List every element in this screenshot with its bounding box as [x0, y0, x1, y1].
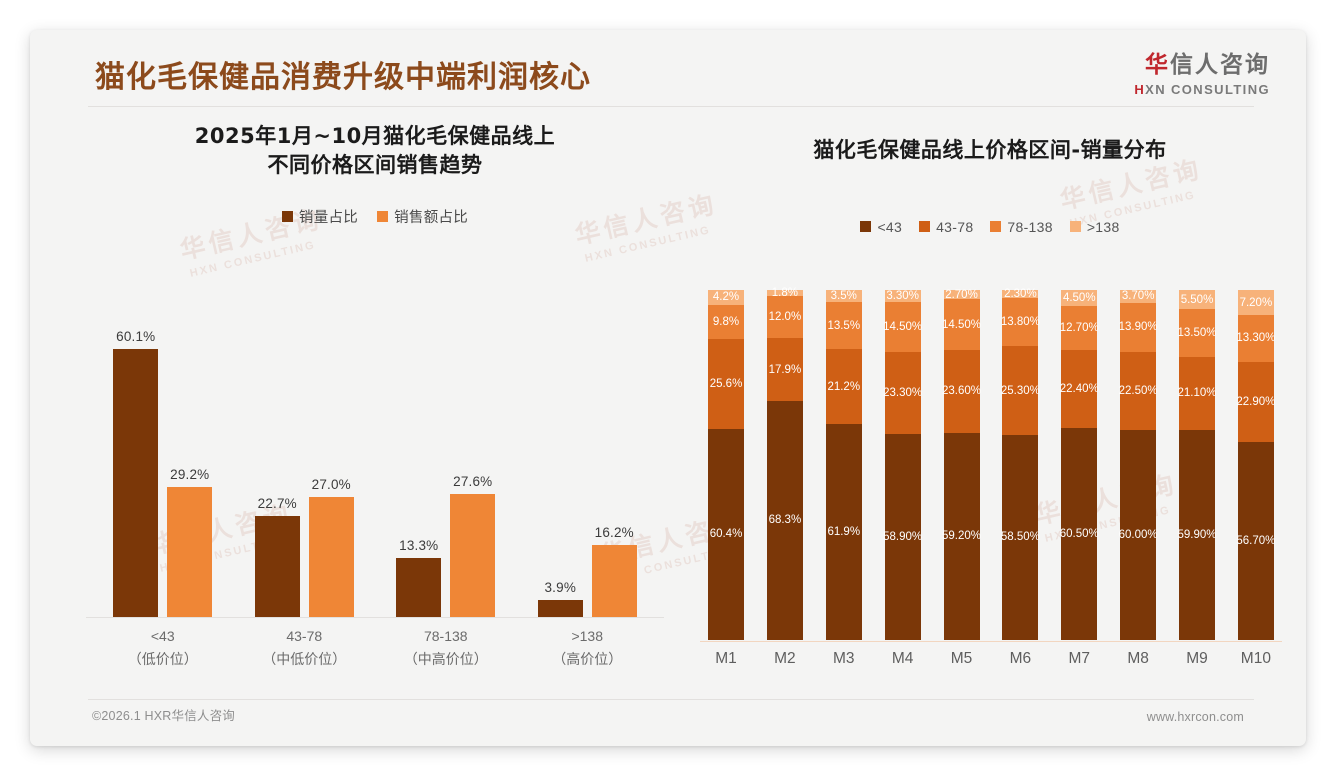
- brand-logo: 华信人咨询 HXN CONSULTING: [1134, 54, 1270, 96]
- stack-segment->138-M5: 2.70%: [944, 290, 980, 299]
- stack-value-label: 56.70%: [1236, 535, 1275, 547]
- stacked-bar-M4[interactable]: 3.30%14.50%23.30%58.90%: [885, 290, 921, 640]
- bar-value-label: 16.2%: [595, 525, 634, 540]
- stack-segment->138-M8: 3.70%: [1120, 290, 1156, 303]
- right-legend-item-1[interactable]: 43-78: [919, 219, 973, 235]
- left-chart-plot: 60.1%29.2%22.7%27.0%13.3%27.6%3.9%16.2%: [92, 327, 658, 617]
- right-legend-item-0[interactable]: <43: [860, 219, 902, 235]
- stack-segment-43-78-M2: 17.9%: [767, 338, 803, 401]
- stack-value-label: 14.50%: [942, 319, 981, 331]
- stack-segment-<43-M6: 58.50%: [1002, 435, 1038, 640]
- stack-value-label: 5.50%: [1181, 294, 1214, 306]
- stack-value-label: 7.20%: [1240, 297, 1273, 309]
- stack-value-label: 13.50%: [1178, 327, 1217, 339]
- stack-value-label: 25.6%: [710, 378, 743, 390]
- stacked-bar-M1[interactable]: 4.2%9.8%25.6%60.4%: [708, 290, 744, 640]
- legend-label: <43: [877, 219, 902, 235]
- bar-value-label: 27.6%: [453, 474, 492, 489]
- stack-segment->138-M9: 5.50%: [1179, 290, 1215, 309]
- stack-value-label: 60.00%: [1119, 529, 1158, 541]
- slide-header: 猫化毛保健品消费升级中端利润核心 华信人咨询 HXN CONSULTING: [30, 30, 1306, 108]
- stack-value-label: 61.9%: [827, 526, 860, 538]
- xaxis-label-M6: M6: [1002, 650, 1038, 668]
- stack-value-label: 3.70%: [1122, 290, 1155, 302]
- stack-segment-43-78-M1: 25.6%: [708, 339, 744, 429]
- bar-销量占比-43-78[interactable]: 22.7%: [255, 327, 300, 617]
- stack-segment->138-M6: 2.30%: [1002, 290, 1038, 298]
- bar-rect: [113, 349, 158, 617]
- bar-rect: [309, 497, 354, 617]
- legend-swatch-icon: [1070, 221, 1081, 232]
- stack-segment-<43-M4: 58.90%: [885, 434, 921, 640]
- bar-销量占比-<43[interactable]: 60.1%: [113, 327, 158, 617]
- bar-value-label: 60.1%: [116, 329, 155, 344]
- stack-segment->138-M10: 7.20%: [1238, 290, 1274, 315]
- stack-value-label: 23.60%: [942, 385, 981, 397]
- stack-segment-<43-M3: 61.9%: [826, 424, 862, 640]
- legend-swatch-icon: [990, 221, 1001, 232]
- xaxis-label-M3: M3: [826, 650, 862, 668]
- stack-value-label: 17.9%: [769, 364, 802, 376]
- bar-value-label: 3.9%: [544, 580, 576, 595]
- legend-label: 销量占比: [299, 206, 358, 227]
- stack-value-label: 13.5%: [827, 320, 860, 332]
- xaxis-label-M7: M7: [1061, 650, 1097, 668]
- stacked-bar-M5[interactable]: 2.70%14.50%23.60%59.20%: [944, 290, 980, 640]
- stack-segment-43-78-M10: 22.90%: [1238, 362, 1274, 442]
- stack-value-label: 4.50%: [1063, 292, 1096, 304]
- left-legend-item-1[interactable]: 销售额占比: [377, 206, 468, 227]
- bar-销售额占比-43-78[interactable]: 27.0%: [309, 327, 354, 617]
- stack-segment-78-138-M1: 9.8%: [708, 305, 744, 339]
- stack-value-label: 21.2%: [827, 381, 860, 393]
- left-chart-panel: 2025年1月~10月猫化毛保健品线上 不同价格区间销售趋势 销量占比销售额占比…: [70, 122, 680, 682]
- bar-value-label: 29.2%: [170, 467, 209, 482]
- bar-group-43-78: 22.7%27.0%: [255, 327, 354, 617]
- stack-segment-78-138-M10: 13.30%: [1238, 315, 1274, 362]
- logo-cn-text: 华信人咨询: [1134, 54, 1270, 77]
- stack-segment-<43-M2: 68.3%: [767, 401, 803, 640]
- stack-segment-43-78-M7: 22.40%: [1061, 350, 1097, 428]
- stack-segment-78-138-M4: 14.50%: [885, 302, 921, 353]
- legend-swatch-icon: [860, 221, 871, 232]
- stack-value-label: 14.50%: [883, 321, 922, 333]
- bar-rect: [167, 487, 212, 617]
- stacked-bar-M3[interactable]: 3.5%13.5%21.2%61.9%: [826, 290, 862, 640]
- stack-value-label: 58.50%: [1001, 531, 1040, 543]
- right-chart-panel: 猫化毛保健品线上价格区间-销量分布 <4343-7878-138>138 4.2…: [690, 122, 1290, 682]
- stack-segment-43-78-M3: 21.2%: [826, 349, 862, 423]
- stack-value-label: 4.2%: [713, 291, 739, 303]
- right-chart-legend: <4343-7878-138>138: [690, 219, 1290, 235]
- xaxis-label-78-138: 78-138（中高价位）: [391, 625, 501, 671]
- xaxis-label-M2: M2: [767, 650, 803, 668]
- stack-value-label: 59.90%: [1178, 529, 1217, 541]
- stack-segment-<43-M9: 59.90%: [1179, 430, 1215, 640]
- stack-value-label: 13.30%: [1236, 332, 1275, 344]
- xaxis-label-<43: <43（低价位）: [108, 625, 218, 671]
- stack-segment->138-M7: 4.50%: [1061, 290, 1097, 306]
- stack-segment-<43-M8: 60.00%: [1120, 430, 1156, 640]
- stack-value-label: 59.20%: [942, 530, 981, 542]
- bar-rect: [450, 494, 495, 617]
- stack-value-label: 3.30%: [886, 290, 919, 302]
- stack-value-label: 23.30%: [883, 387, 922, 399]
- left-chart-title: 2025年1月~10月猫化毛保健品线上 不同价格区间销售趋势: [70, 122, 680, 180]
- stack-segment-78-138-M9: 13.50%: [1179, 309, 1215, 356]
- right-legend-item-3[interactable]: >138: [1070, 219, 1120, 235]
- stacked-bar-M9[interactable]: 5.50%13.50%21.10%59.90%: [1179, 290, 1215, 640]
- header-divider: [88, 106, 1254, 107]
- bar-value-label: 13.3%: [399, 538, 438, 553]
- stack-segment->138-M1: 4.2%: [708, 290, 744, 305]
- stack-value-label: 58.90%: [883, 531, 922, 543]
- legend-label: 销售额占比: [394, 206, 468, 227]
- bar-rect: [592, 545, 637, 617]
- bar-rect: [396, 558, 441, 617]
- left-chart-title-line1: 2025年1月~10月猫化毛保健品线上: [195, 124, 555, 148]
- stack-segment-43-78-M4: 23.30%: [885, 352, 921, 434]
- stack-value-label: 68.3%: [769, 514, 802, 526]
- bar-销售额占比-78-138[interactable]: 27.6%: [450, 327, 495, 617]
- legend-label: 78-138: [1007, 219, 1052, 235]
- stack-segment-78-138-M2: 12.0%: [767, 296, 803, 338]
- stack-segment->138-M3: 3.5%: [826, 290, 862, 302]
- stack-value-label: 22.50%: [1119, 385, 1158, 397]
- legend-swatch-icon: [377, 211, 388, 222]
- stacked-bar-M8[interactable]: 3.70%13.90%22.50%60.00%: [1120, 290, 1156, 640]
- bar-销量占比->138[interactable]: 3.9%: [538, 327, 583, 617]
- left-chart-axis-line: [86, 617, 664, 618]
- stack-value-label: 25.30%: [1001, 385, 1040, 397]
- stack-value-label: 60.4%: [710, 528, 743, 540]
- stack-segment-43-78-M5: 23.60%: [944, 350, 980, 433]
- stack-segment-43-78-M9: 21.10%: [1179, 357, 1215, 431]
- stack-segment-<43-M10: 56.70%: [1238, 442, 1274, 640]
- right-legend-item-2[interactable]: 78-138: [990, 219, 1052, 235]
- left-chart-legend: 销量占比销售额占比: [70, 206, 680, 227]
- bar-销量占比-78-138[interactable]: 13.3%: [396, 327, 441, 617]
- bar-销售额占比-<43[interactable]: 29.2%: [167, 327, 212, 617]
- stack-value-label: 13.90%: [1119, 321, 1158, 333]
- stack-segment-43-78-M8: 22.50%: [1120, 352, 1156, 431]
- stack-value-label: 60.50%: [1060, 528, 1099, 540]
- legend-label: 43-78: [936, 219, 973, 235]
- xaxis-label-M1: M1: [708, 650, 744, 668]
- stack-segment-78-138-M3: 13.5%: [826, 302, 862, 349]
- xaxis-label-M9: M9: [1179, 650, 1215, 668]
- legend-label: >138: [1087, 219, 1120, 235]
- stack-segment-78-138-M8: 13.90%: [1120, 303, 1156, 352]
- stack-segment-<43-M5: 59.20%: [944, 433, 980, 640]
- stacked-bar-M6[interactable]: 2.30%13.80%25.30%58.50%: [1002, 290, 1038, 640]
- bar-value-label: 22.7%: [258, 496, 297, 511]
- stacked-bar-M10[interactable]: 7.20%13.30%22.90%56.70%: [1238, 290, 1274, 640]
- xaxis-label-43-78: 43-78（中低价位）: [249, 625, 359, 671]
- bar-销售额占比->138[interactable]: 16.2%: [592, 327, 637, 617]
- stack-segment-<43-M1: 60.4%: [708, 429, 744, 640]
- footer-copyright: ©2026.1 HXR华信人咨询: [92, 705, 235, 724]
- page-title: 猫化毛保健品消费升级中端利润核心: [95, 52, 591, 96]
- xaxis-label->138: >138（高价位）: [532, 625, 642, 671]
- footer-website: www.hxrcon.com: [1147, 710, 1244, 724]
- stack-value-label: 21.10%: [1178, 387, 1217, 399]
- xaxis-label-M5: M5: [944, 650, 980, 668]
- right-chart-axis-line: [700, 641, 1282, 642]
- bar-group-78-138: 13.3%27.6%: [396, 327, 495, 617]
- stack-value-label: 13.80%: [1001, 316, 1040, 328]
- stack-value-label: 12.0%: [769, 311, 802, 323]
- logo-en-text: HXN CONSULTING: [1134, 83, 1270, 96]
- stack-segment->138-M4: 3.30%: [885, 290, 921, 302]
- left-chart-xaxis-labels: <43（低价位）43-78（中低价位）78-138（中高价位）>138（高价位）: [92, 625, 658, 671]
- left-legend-item-0[interactable]: 销量占比: [282, 206, 358, 227]
- stack-segment-78-138-M5: 14.50%: [944, 299, 980, 350]
- stack-segment-43-78-M6: 25.30%: [1002, 346, 1038, 435]
- right-chart-xaxis-labels: M1M2M3M4M5M6M7M8M9M10: [708, 650, 1274, 668]
- legend-swatch-icon: [282, 211, 293, 222]
- bar-rect: [538, 600, 583, 617]
- right-chart-plot: 4.2%9.8%25.6%60.4%1.8%12.0%17.9%68.3%3.5…: [708, 290, 1274, 640]
- left-chart-title-line2: 不同价格区间销售趋势: [268, 153, 483, 177]
- stack-value-label: 22.40%: [1060, 383, 1099, 395]
- xaxis-label-M8: M8: [1120, 650, 1156, 668]
- stack-segment-<43-M7: 60.50%: [1061, 428, 1097, 640]
- stack-value-label: 3.5%: [831, 290, 857, 302]
- bar-rect: [255, 516, 300, 617]
- xaxis-label-M4: M4: [885, 650, 921, 668]
- stacked-bar-M7[interactable]: 4.50%12.70%22.40%60.50%: [1061, 290, 1097, 640]
- right-chart-title: 猫化毛保健品线上价格区间-销量分布: [690, 122, 1290, 165]
- stack-segment-78-138-M6: 13.80%: [1002, 298, 1038, 346]
- stacked-bar-M2[interactable]: 1.8%12.0%17.9%68.3%: [767, 290, 803, 640]
- legend-swatch-icon: [919, 221, 930, 232]
- bar-value-label: 27.0%: [312, 477, 351, 492]
- stack-segment-78-138-M7: 12.70%: [1061, 306, 1097, 350]
- bar-group-<43: 60.1%29.2%: [113, 327, 212, 617]
- xaxis-label-M10: M10: [1238, 650, 1274, 668]
- bar-group->138: 3.9%16.2%: [538, 327, 637, 617]
- stack-value-label: 9.8%: [713, 316, 739, 328]
- stack-value-label: 22.90%: [1236, 396, 1275, 408]
- slide-card: 华信人咨询 HXN CONSULTING 华信人咨询 HXN CONSULTIN…: [30, 30, 1306, 746]
- footer-divider: [88, 699, 1254, 700]
- stack-value-label: 12.70%: [1060, 322, 1099, 334]
